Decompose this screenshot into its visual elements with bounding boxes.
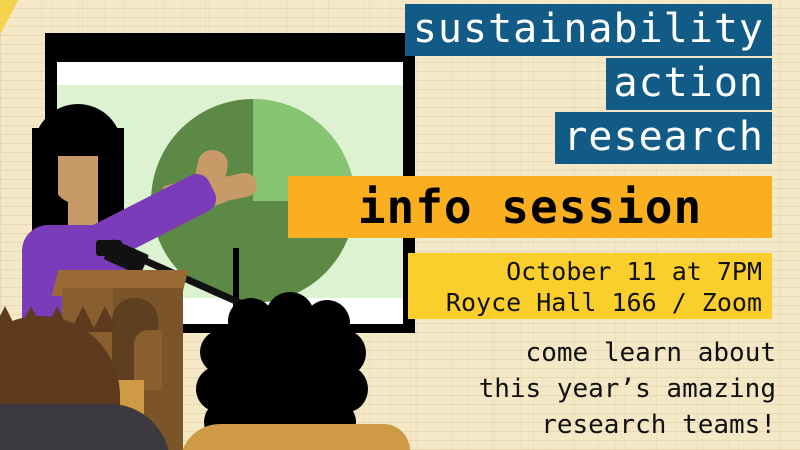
microphone-capsule <box>96 240 122 256</box>
info-session-label: info session <box>288 176 772 238</box>
tagline-line-3: research teams! <box>396 407 776 443</box>
event-details-block: October 11 at 7PM Royce Hall 166 / Zoom <box>408 253 772 319</box>
tagline-line-1: come learn about <box>396 335 776 371</box>
poster: sustainability action research info sess… <box>0 0 800 450</box>
heading-research: research <box>555 112 772 164</box>
tagline-block: come learn about this year’s amazing res… <box>396 335 776 443</box>
event-location: Royce Hall 166 / Zoom <box>408 287 762 318</box>
info-session-banner: info session <box>288 176 772 238</box>
event-date-time: October 11 at 7PM <box>408 256 762 287</box>
heading-action: action <box>606 58 773 110</box>
heading-sustainability: sustainability <box>405 4 772 56</box>
audience-shoulders-right <box>180 424 410 450</box>
tagline-line-2: this year’s amazing <box>396 371 776 407</box>
